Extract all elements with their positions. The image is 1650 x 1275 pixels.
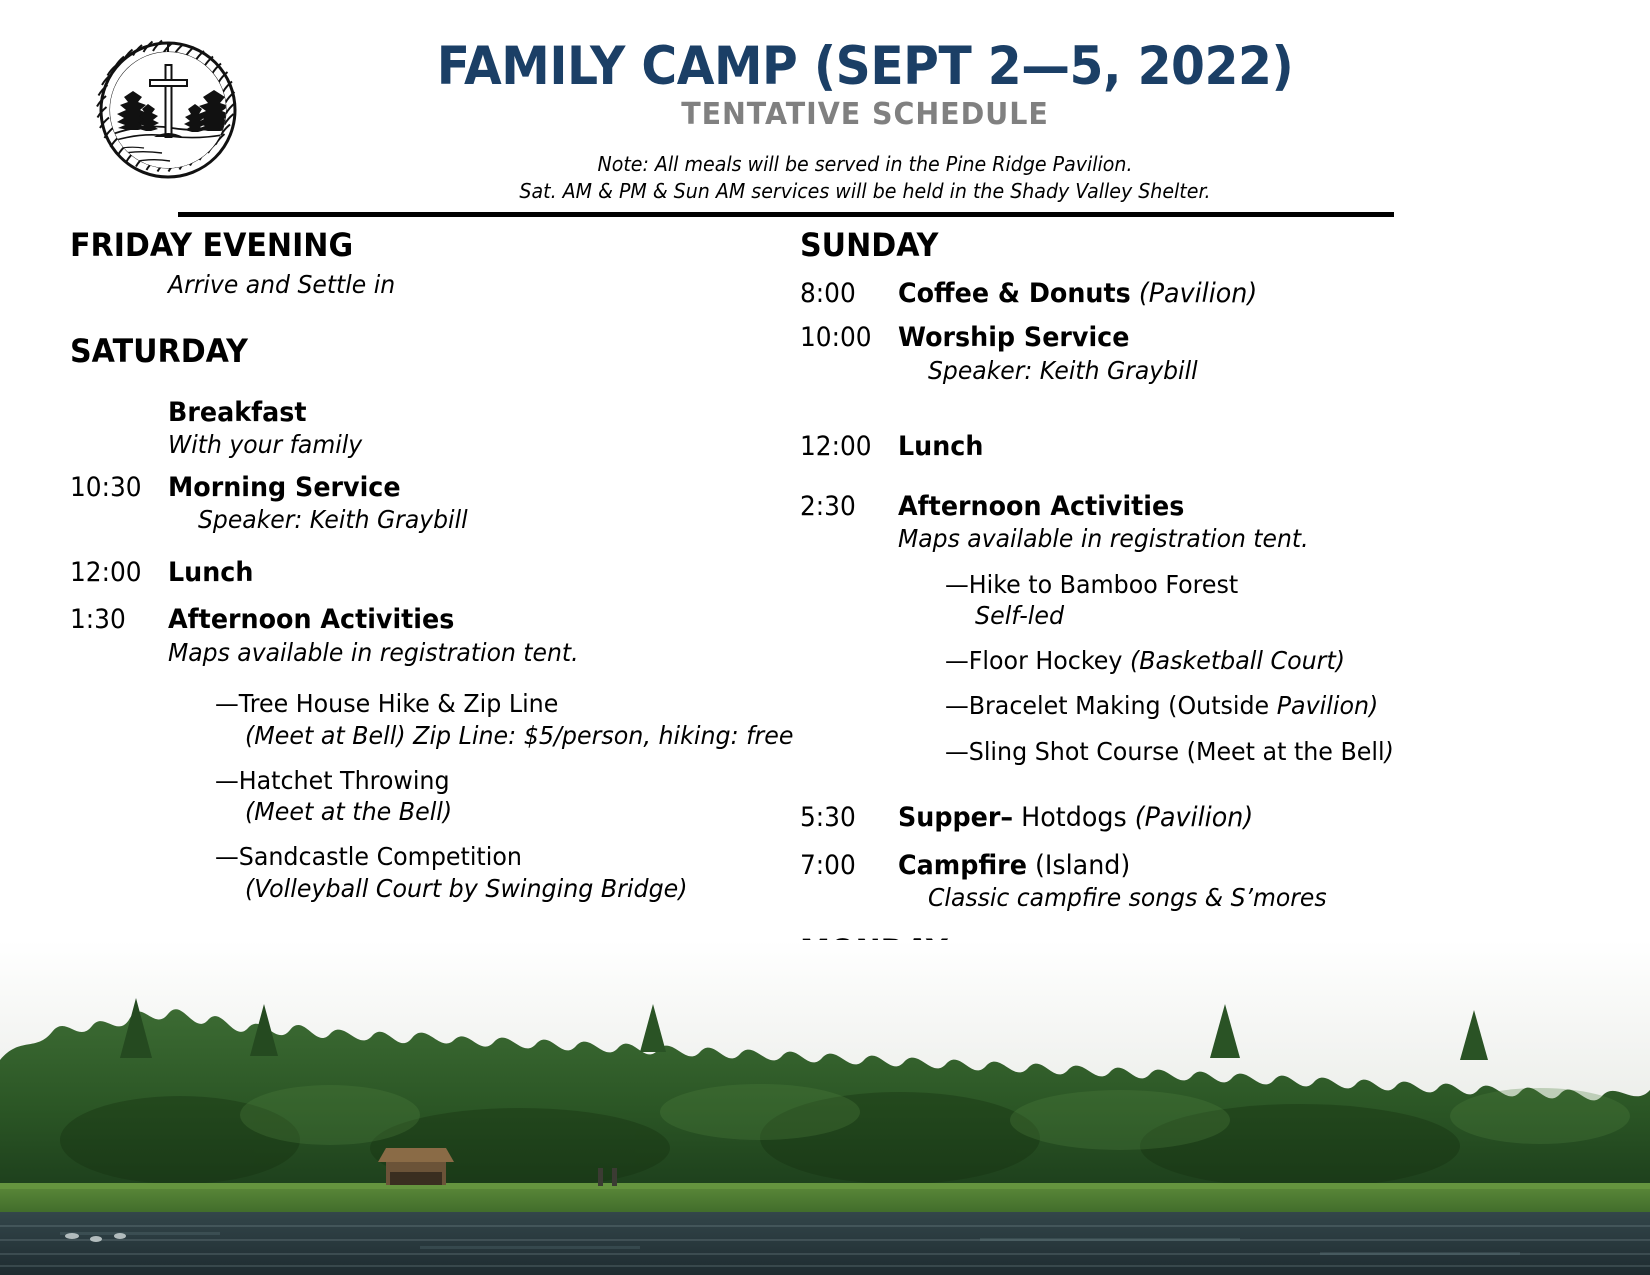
activity-item: —Bracelet Making (Outside Pavilion) [945, 690, 1558, 721]
activity-item-detail: (Volleyball Court by Swinging Bridge) [245, 873, 772, 904]
lake-forest-photo [0, 940, 1650, 1275]
header: FAMILY CAMP (SEPT 2—5, 2022) TENTATIVE S… [0, 0, 1650, 220]
worship-service-speaker: Speaker: Keith Graybill [928, 355, 1550, 386]
schedule-row-afternoon-sat: 1:30 Afternoon Activities [70, 603, 800, 637]
activity-item-detail: (Meet at Bell) Zip Line: $5/person, hiki… [245, 720, 772, 751]
time-lunch-sat: 12:00 [70, 556, 160, 590]
schedule-row-lunch-sat: 12:00 Lunch [70, 556, 800, 590]
note-block: Note: All meals will be served in the Pi… [281, 151, 1450, 204]
event-afternoon-sat: Afternoon Activities [168, 603, 454, 637]
breakfast-description: With your family [168, 429, 762, 460]
event-campfire: Campfire (Island) [898, 849, 1130, 883]
friday-description: Arrive and Settle in [168, 269, 762, 300]
time-coffee-donuts: 8:00 [800, 277, 890, 311]
activity-item: —Floor Hockey (Basketball Court) [945, 645, 1558, 676]
event-worship-service: Worship Service [898, 321, 1129, 355]
event-breakfast: Breakfast [168, 396, 306, 430]
day-heading-friday: FRIDAY EVENING [70, 228, 756, 263]
page-subtitle: TENTATIVE SCHEDULE [281, 97, 1450, 133]
time-supper-sun: 5:30 [800, 801, 890, 835]
header-divider [178, 212, 1394, 217]
activity-item: —Sling Shot Course (Meet at the Bell) [945, 736, 1558, 767]
schedule-row-afternoon-sun: 2:30 Afternoon Activities [800, 490, 1590, 524]
morning-service-speaker: Speaker: Keith Graybill [198, 504, 764, 535]
schedule-row-supper-sun: 5:30 Supper– Hotdogs (Pavilion) [800, 801, 1590, 835]
time-campfire: 7:00 [800, 849, 890, 883]
schedule-flyer: FAMILY CAMP (SEPT 2—5, 2022) TENTATIVE S… [0, 0, 1650, 1275]
day-heading-saturday: SATURDAY [70, 334, 756, 369]
event-supper-sun: Supper– Hotdogs (Pavilion) [898, 801, 1253, 835]
schedule-row-campfire: 7:00 Campfire (Island) [800, 849, 1590, 883]
note-line-2: Sat. AM & PM & Sun AM services will be h… [281, 178, 1450, 204]
schedule-row-worship-service: 10:00 Worship Service [800, 321, 1590, 355]
event-lunch-sun: Lunch [898, 430, 983, 464]
event-coffee-donuts: Coffee & Donuts (Pavilion) [898, 277, 1257, 311]
event-afternoon-sun: Afternoon Activities [898, 490, 1184, 524]
event-morning-service: Morning Service [168, 471, 401, 505]
activity-item: —Hatchet Throwing [215, 765, 771, 796]
activity-item: —Hike to Bamboo Forest [945, 569, 1558, 600]
activity-item: —Tree House Hike & Zip Line [215, 688, 771, 719]
event-lunch-sat: Lunch [168, 556, 253, 590]
time-worship-service: 10:00 [800, 321, 890, 355]
time-afternoon-sat: 1:30 [70, 603, 160, 637]
time-afternoon-sun: 2:30 [800, 490, 890, 524]
shelter-structure [378, 1148, 454, 1185]
campfire-description: Classic campfire songs & S’mores [928, 882, 1550, 913]
schedule-row-breakfast: Breakfast [70, 396, 800, 430]
day-heading-sunday: SUNDAY [800, 228, 1543, 263]
schedule-row-coffee-donuts: 8:00 Coffee & Donuts (Pavilion) [800, 277, 1590, 311]
schedule-row-lunch-sun: 12:00 Lunch [800, 430, 1590, 464]
title-block: FAMILY CAMP (SEPT 2—5, 2022) TENTATIVE S… [250, 38, 1480, 204]
camp-emblem-logo [88, 30, 248, 190]
afternoon-sun-description: Maps available in registration tent. [898, 523, 1548, 554]
activity-item-detail: (Meet at the Bell) [245, 796, 772, 827]
schedule-row-morning-service: 10:30 Morning Service [70, 471, 800, 505]
afternoon-sat-description: Maps available in registration tent. [168, 637, 762, 668]
time-lunch-sun: 12:00 [800, 430, 890, 464]
activity-item: —Sandcastle Competition [215, 841, 771, 872]
page-title: FAMILY CAMP (SEPT 2—5, 2022) [299, 38, 1431, 95]
time-morning-service: 10:30 [70, 471, 160, 505]
activity-item-detail: Self-led [975, 600, 1559, 631]
note-line-1: Note: All meals will be served in the Pi… [281, 151, 1450, 177]
